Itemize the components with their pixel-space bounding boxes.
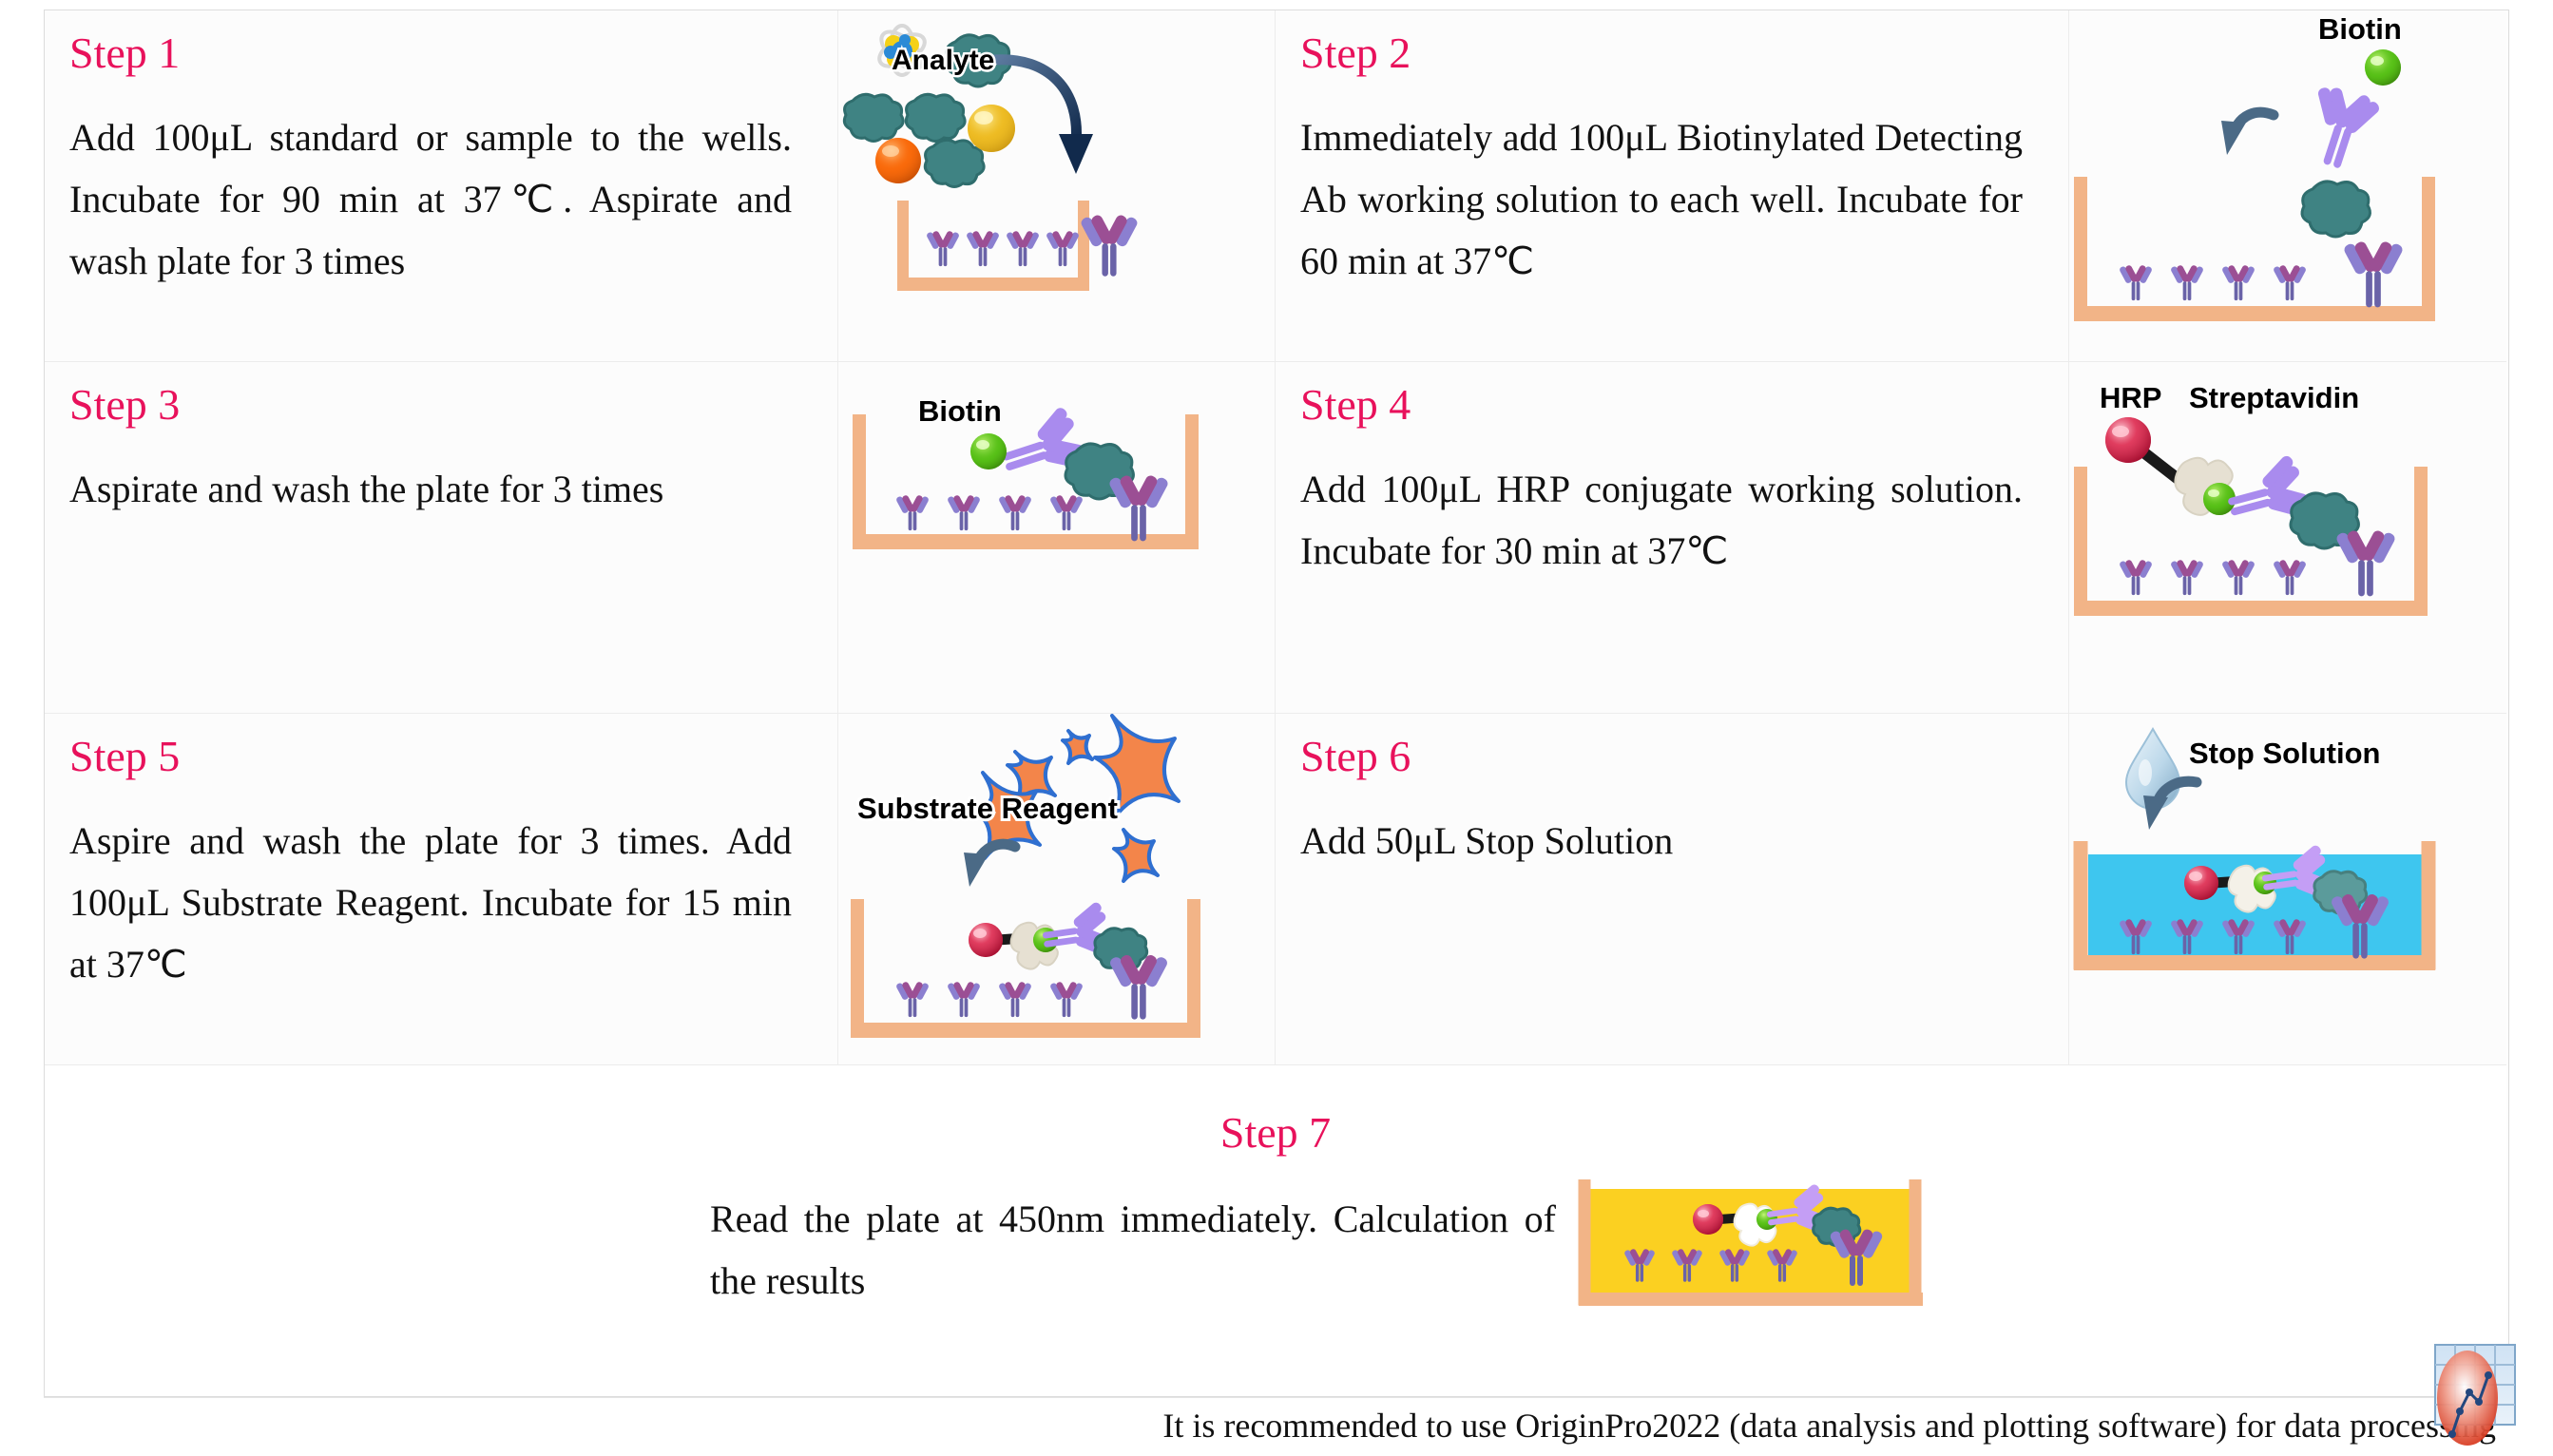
step-3-body: Aspirate and wash the plate for 3 times <box>69 459 792 521</box>
step-5-art-label: Substrate Reagent <box>857 792 1118 825</box>
step-3-art-label: Biotin <box>918 394 1002 428</box>
step-7-cell: Step 7 Read the plate at 450nm immediate… <box>45 1065 2506 1396</box>
step-3-text-cell: Step 3 Aspirate and wash the plate for 3… <box>45 362 838 714</box>
step-1-art-cell: Analyte <box>838 10 1276 362</box>
footer-note: It is recommended to use OriginPro2022 (… <box>1162 1406 2496 1446</box>
step-2-title: Step 2 <box>1300 31 2044 75</box>
step-2-art-label: Biotin <box>2318 12 2402 46</box>
step-3-art-cell: Biotin <box>838 362 1276 714</box>
step-1-body: Add 100μL standard or sample to the well… <box>69 107 792 292</box>
elisa-protocol-page: Step 1 Add 100μL standard or sample to t… <box>0 0 2553 1456</box>
step-7-body: Read the plate at 450nm immediately. Cal… <box>710 1189 1556 1312</box>
yellow-sphere <box>968 105 1015 152</box>
step-4-text-cell: Step 4 Add 100μL HRP conjugate working s… <box>1276 362 2069 714</box>
step-6-illustration: Stop Solution <box>2069 714 2506 1064</box>
step-5-illustration: Substrate Reagent <box>838 714 1276 1064</box>
step-1-art-label: Analyte <box>892 45 994 76</box>
step-2-illustration: Biotin <box>2069 10 2506 361</box>
capture-antibody-row <box>895 981 1084 1017</box>
curved-arrow-icon <box>964 844 1015 887</box>
step-4-art-label-streptavidin: Streptavidin <box>2189 381 2359 414</box>
step-6-title: Step 6 <box>1300 735 2044 778</box>
step-5-text-cell: Step 5 Aspire and wash the plate for 3 t… <box>45 714 838 1065</box>
analyte-blob-bound <box>2302 182 2370 237</box>
capture-antibody-row <box>2119 264 2307 300</box>
biotin-sphere <box>2365 49 2401 86</box>
step-4-title: Step 4 <box>1300 383 2044 427</box>
step-5-art-cell: Substrate Reagent <box>838 714 1276 1065</box>
capture-antibody-large <box>1108 474 1170 542</box>
step-2-art-cell: Biotin <box>2069 10 2506 362</box>
protocol-grid: Step 1 Add 100μL standard or sample to t… <box>44 10 2509 1397</box>
step-3-illustration: Biotin <box>838 362 1276 713</box>
biotinylated-detecting-antibody <box>2295 79 2384 176</box>
step-6-body: Add 50μL Stop Solution <box>1300 811 2023 872</box>
step-1-illustration: Analyte <box>838 10 1276 361</box>
step-4-body: Add 100μL HRP conjugate working solution… <box>1300 459 2023 583</box>
curved-arrow-icon <box>2221 112 2274 155</box>
capture-antibody-row <box>895 494 1084 530</box>
capture-antibody-row <box>2119 559 2307 595</box>
step-2-body: Immediately add 100μL Biotinylated Detec… <box>1300 107 2023 292</box>
step-5-title: Step 5 <box>69 735 813 778</box>
step-4-art-label-hrp: HRP <box>2100 381 2161 414</box>
capture-antibody-large <box>2335 529 2397 597</box>
step-7-title: Step 7 <box>45 1107 2506 1158</box>
biotin-sphere <box>970 433 1007 469</box>
step-5-body: Aspire and wash the plate for 3 times. A… <box>69 811 792 995</box>
step-6-text-cell: Step 6 Add 50μL Stop Solution <box>1276 714 2069 1065</box>
orange-sphere <box>875 138 921 183</box>
step-6-art-cell: Stop Solution <box>2069 714 2506 1065</box>
step-3-title: Step 3 <box>69 383 813 427</box>
capture-antibody-row <box>926 214 1139 277</box>
footer: It is recommended to use OriginPro2022 (… <box>44 1397 2509 1453</box>
step-7-illustration <box>1575 1170 1936 1341</box>
step-2-text-cell: Step 2 Immediately add 100μL Biotinylate… <box>1276 10 2069 362</box>
step-1-text-cell: Step 1 Add 100μL standard or sample to t… <box>45 10 838 362</box>
capture-antibody-large <box>2343 240 2405 308</box>
step-1-title: Step 1 <box>69 31 813 75</box>
step-4-art-cell: HRP Streptavidin <box>2069 362 2506 714</box>
step-4-illustration: HRP Streptavidin <box>2069 362 2506 713</box>
step-6-art-label: Stop Solution <box>2189 737 2380 770</box>
originpro-logo <box>2414 1343 2519 1449</box>
